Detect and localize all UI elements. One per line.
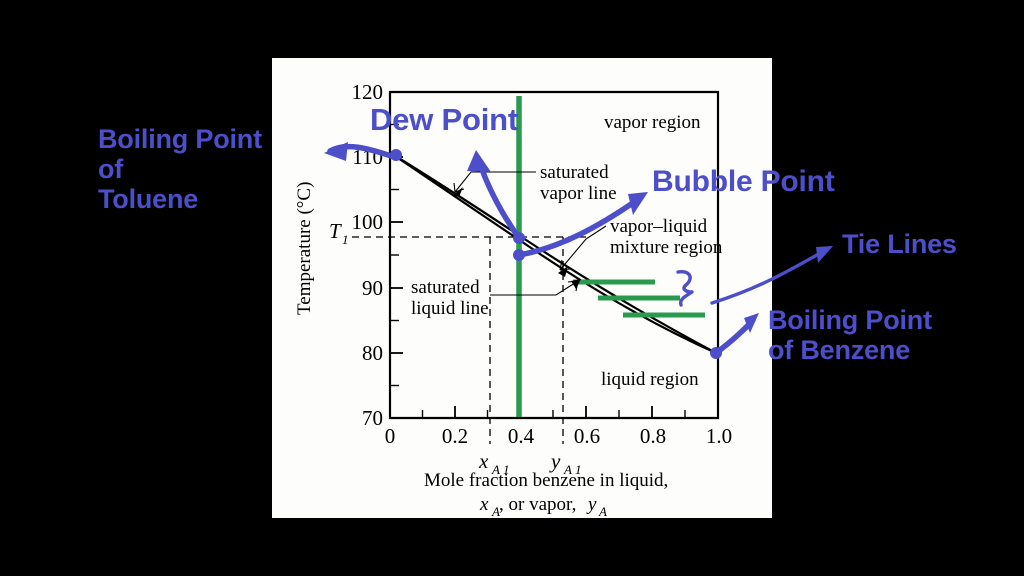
slide-canvas: 120 110 100 90 80 70 0 0.2 0.4 0.6 0.8 1… xyxy=(0,0,1024,576)
tie-lines-arrow xyxy=(712,246,833,303)
bubble-point-arrow xyxy=(513,192,648,261)
annotation-boiling-point-toluene: Boiling Point of Toluene xyxy=(98,124,262,215)
annotation-arrow-svg xyxy=(0,0,1024,576)
annotation-boiling-point-benzene: Boiling Point of Benzene xyxy=(768,305,932,365)
benzene-arrow xyxy=(710,313,759,359)
annotation-tie-lines: Tie Lines xyxy=(842,229,957,259)
annotation-bubble-point: Bubble Point xyxy=(652,165,835,199)
tie-lines-brace xyxy=(678,272,692,305)
annotation-dew-point: Dew Point xyxy=(370,103,518,138)
toluene-arrow xyxy=(324,142,402,161)
dew-point-arrow xyxy=(467,150,525,244)
